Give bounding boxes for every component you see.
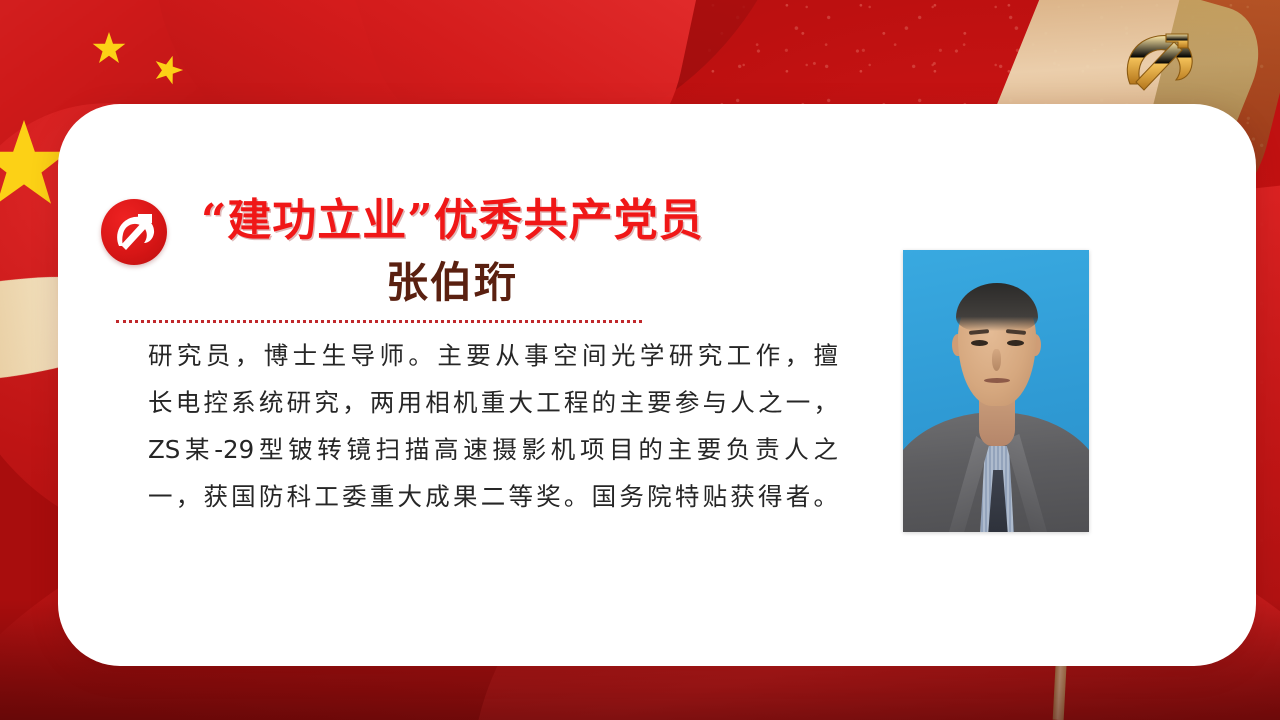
bio-line: ZS某-29型铍转镜扫描高速摄影机项目的主要负责人之 bbox=[148, 426, 838, 473]
page-title: “建功立业”优秀共产党员 bbox=[201, 199, 704, 243]
portrait-nose bbox=[992, 349, 1001, 371]
portrait-mouth bbox=[984, 378, 1010, 383]
person-name: 张伯珩 bbox=[386, 262, 518, 304]
bio-paragraph: 研究员，博士生导师。主要从事空间光学研究工作，擅 长电控系统研究，两用相机重大工… bbox=[148, 332, 838, 520]
portrait-eye-right bbox=[1007, 340, 1024, 346]
flag-star-small-1 bbox=[92, 32, 126, 66]
portrait-eye-left bbox=[971, 340, 988, 346]
portrait-photo bbox=[903, 250, 1089, 532]
portrait-neck bbox=[979, 400, 1015, 446]
hammer-and-sickle-icon bbox=[101, 199, 167, 265]
bio-line: 一，获国防科工委重大成果二等奖。国务院特贴获得者。 bbox=[148, 473, 838, 520]
bio-line: 研究员，博士生导师。主要从事空间光学研究工作，擅 bbox=[148, 332, 838, 379]
title-divider bbox=[116, 320, 642, 323]
flag-star-small-2 bbox=[149, 51, 187, 89]
hammer-and-sickle-gold-icon bbox=[1108, 22, 1204, 98]
slide-root: “建功立业”优秀共产党员 张伯珩 研究员，博士生导师。主要从事空间光学研究工作，… bbox=[0, 0, 1280, 720]
bio-line: 长电控系统研究，两用相机重大工程的主要参与人之一， bbox=[148, 379, 838, 426]
